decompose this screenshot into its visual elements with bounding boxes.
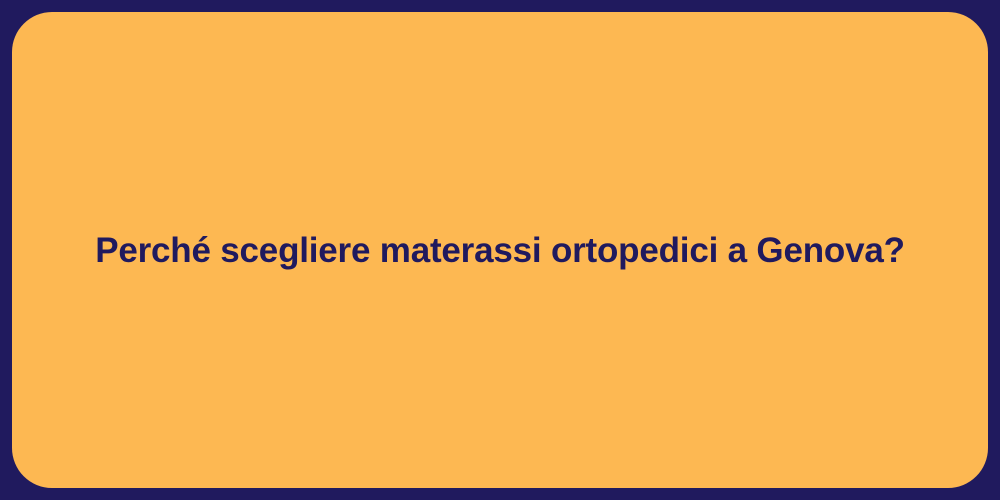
card-panel: Perché scegliere materassi ortopedici a … — [12, 12, 988, 488]
card-heading: Perché scegliere materassi ortopedici a … — [55, 229, 945, 273]
card-frame: Perché scegliere materassi ortopedici a … — [0, 0, 1000, 500]
